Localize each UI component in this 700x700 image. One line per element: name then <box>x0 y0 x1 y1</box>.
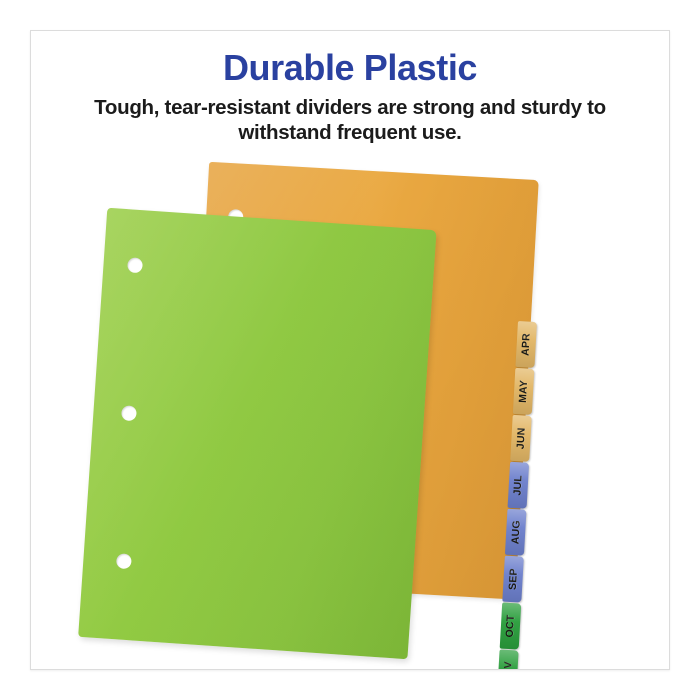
page-subtitle: Tough, tear-resistant dividers are stron… <box>70 95 630 145</box>
tab-jul[interactable]: JUL <box>508 462 530 509</box>
tab-label: SEP <box>506 568 519 590</box>
tab-label: NOV <box>501 661 514 670</box>
tab-aug[interactable]: AUG <box>505 509 527 556</box>
page-title: Durable Plastic <box>31 47 669 89</box>
headline-block: Durable Plastic Tough, tear-resistant di… <box>31 47 669 145</box>
tab-oct[interactable]: OCT <box>500 603 522 650</box>
tab-apr[interactable]: APR <box>515 321 537 368</box>
punch-hole <box>116 553 132 569</box>
tab-jun[interactable]: JUN <box>510 415 532 462</box>
tab-label: JUL <box>512 475 525 496</box>
tab-may[interactable]: MAY <box>513 368 535 415</box>
product-image-card: Durable Plastic Tough, tear-resistant di… <box>30 30 670 670</box>
punch-hole <box>127 257 143 273</box>
tab-label: OCT <box>504 614 517 637</box>
tab-nov[interactable]: NOV <box>497 649 519 670</box>
product-photo: APR MAY JUN JUL AUG SEP OCT NOV <box>31 141 670 670</box>
punch-hole <box>121 405 137 421</box>
tab-sep[interactable]: SEP <box>502 556 524 603</box>
tab-label: JUN <box>514 427 527 449</box>
tab-label: APR <box>520 333 533 356</box>
tab-label: AUG <box>509 520 522 545</box>
green-divider-sheet <box>78 208 436 659</box>
tab-label: MAY <box>517 380 530 404</box>
